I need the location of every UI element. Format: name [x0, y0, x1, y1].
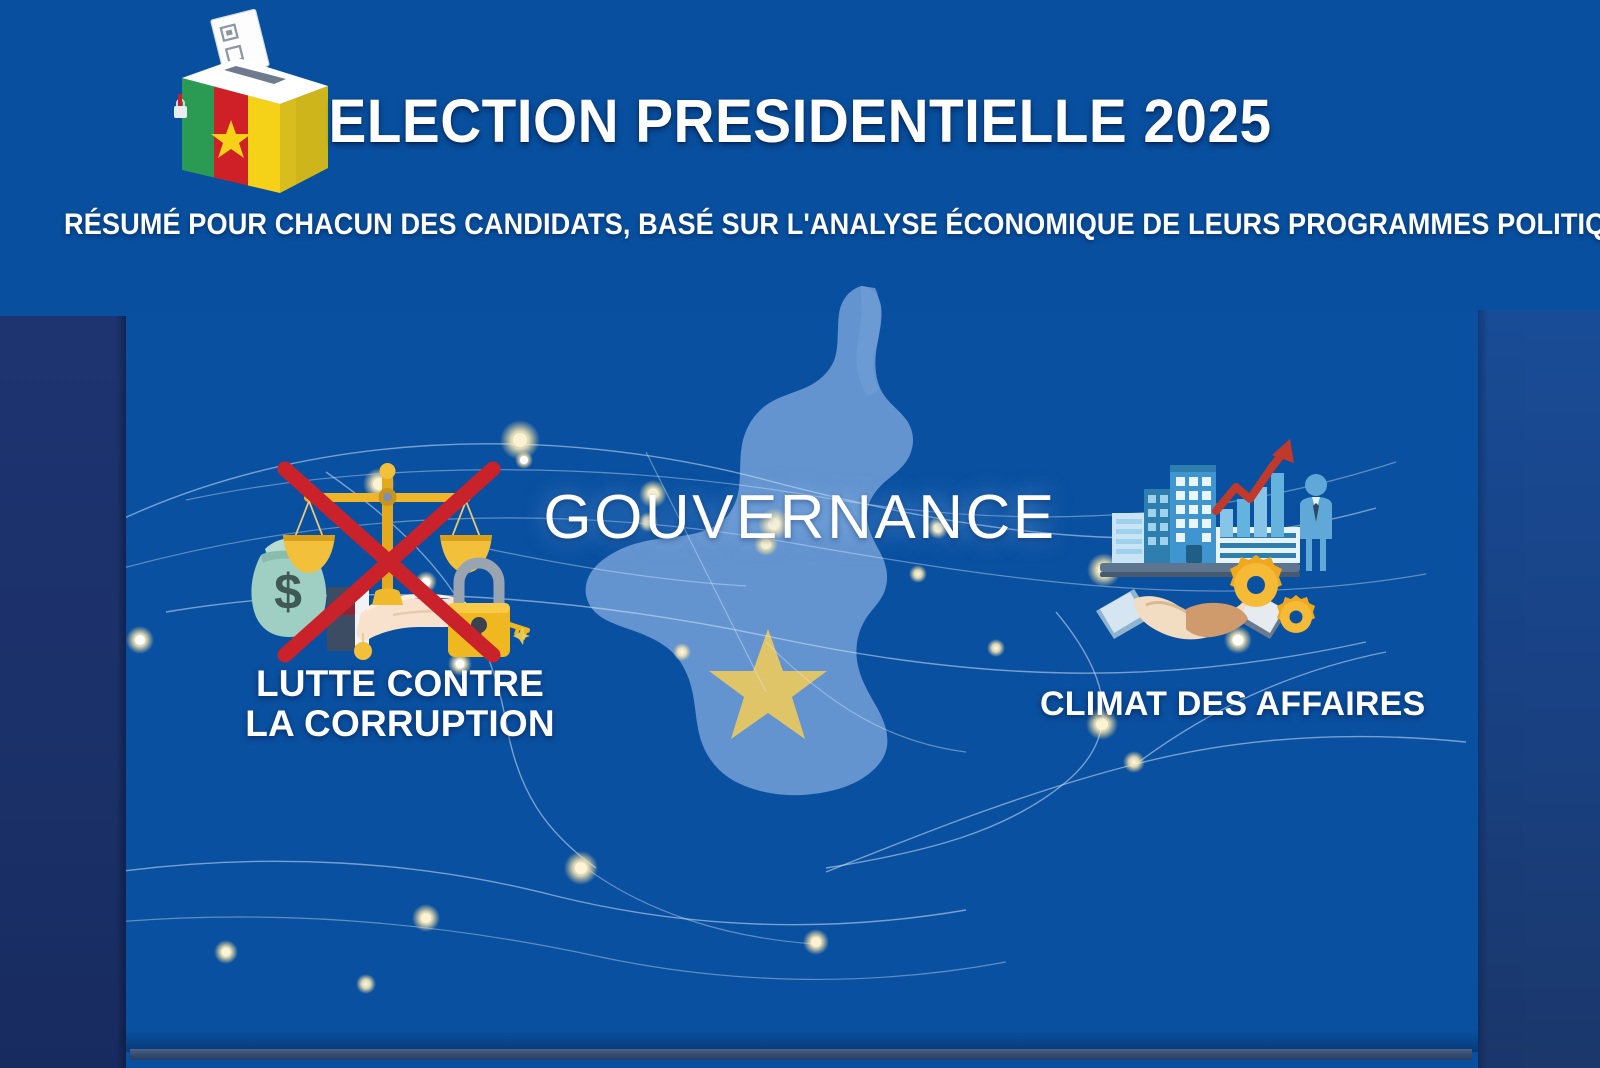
slide-header: ELECTION PRESIDENTIELLE 2025 RÉSUMÉ POUR…	[0, 0, 1600, 290]
left-pillar-label-line1: LUTTE CONTRE	[180, 664, 620, 704]
business-climate-icon	[1090, 427, 1340, 647]
svg-text:$: $	[274, 564, 302, 620]
right-pillar-label: CLIMAT DES AFFAIRES	[1040, 686, 1425, 723]
presentation-slide: ELECTION PRESIDENTIELLE 2025 RÉSUMÉ POUR…	[0, 0, 1600, 1068]
businessman-silhouette-icon	[1300, 474, 1332, 571]
center-heading-gouvernance: GOUVERNANCE	[0, 482, 1600, 553]
page-subtitle: RÉSUMÉ POUR CHACUN DES CANDIDATS, BASÉ S…	[64, 208, 1536, 242]
room-panel-left	[0, 316, 126, 1068]
anti-corruption-crossed-out-icon: $	[243, 437, 533, 667]
page-title: ELECTION PRESIDENTIELLE 2025	[56, 86, 1544, 156]
room-panel-right	[1478, 310, 1600, 1068]
left-pillar-label-line2: LA CORRUPTION	[180, 704, 620, 744]
screen-bottom-edge	[130, 1049, 1472, 1060]
left-pillar-label: LUTTE CONTRE LA CORRUPTION	[180, 664, 620, 744]
